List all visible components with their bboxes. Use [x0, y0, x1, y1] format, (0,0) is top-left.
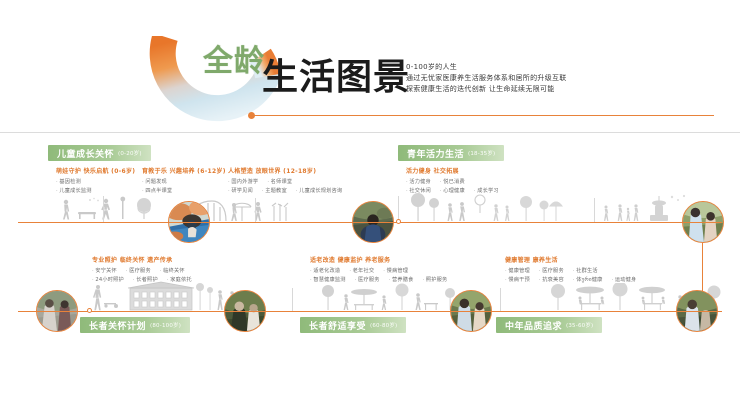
group-heading: 专业照护 临终关怀 遗产传承: [92, 255, 192, 264]
bullet-item: 活力健身: [406, 178, 431, 185]
chip-title: 儿童成长关怀: [57, 147, 114, 160]
rail-tick: [255, 198, 256, 222]
header-subtitle: 0-100岁的人生 通过无忧家医康养生活服务体系和居所的升级互联 探索健康生活的…: [406, 62, 567, 95]
group-row: 基因检测: [56, 178, 135, 185]
bullet-group-midlife: 健康管理 康养生活 健康管理 医疗服务 社群生活 慢病干预 抗衰美容 体ური健…: [505, 255, 636, 284]
rail-node-youth: [396, 219, 401, 224]
bullet-item: 运动健身: [612, 276, 637, 283]
chip-range: (35-60岁): [566, 321, 593, 329]
timeline-rail-top: [18, 222, 722, 223]
chip-title: 青年活力生活: [407, 147, 464, 160]
scene-care-residence: [90, 281, 246, 312]
bullet-item: 基因检测: [56, 178, 81, 185]
bullet-item: 医疗服务: [355, 276, 380, 283]
bullet-group-child-2: 人格塑造 放眼世界 (12-18岁) 国内外游学 名师课堂 研学见闻 主题教室 …: [228, 166, 342, 195]
bullet-item: 老年社交: [349, 267, 374, 274]
title-green: 全龄: [203, 47, 265, 77]
bullet-item: 抗衰美容: [539, 276, 564, 283]
chip-range: (80-100岁): [150, 321, 181, 329]
group-row: 慢病干预 抗衰美容 体ური健康 运动健身: [505, 276, 636, 283]
chip-title: 中年品质追求: [505, 319, 562, 332]
bullet-group-child-1: 育教于乐 兴趣培养 (6-12岁) 问题发现 四点半课堂: [142, 166, 226, 195]
bullet-item: 研学见闻: [228, 187, 253, 194]
timeline-rail-bottom: [18, 311, 722, 312]
bullet-item: 慢病管理: [383, 267, 408, 274]
section-chip-youth[interactable]: 青年活力生活 (18-35岁): [398, 145, 504, 161]
bullet-group-child-0: 萌娃守护 快乐启航 (0-6岁) 基因检测 儿童成长监测: [56, 166, 135, 195]
subtitle-line-2: 通过无忧家医康养生活服务体系和居所的升级互联: [406, 73, 567, 84]
scene-city-park: [404, 192, 572, 223]
bullet-group-elder-comfort: 适老改造 健康监护 养老服务 适老化改造 老年社交 慢病管理 智慧健康监测 医疗…: [310, 255, 447, 284]
bullet-group-youth-0: 活力健身 社交拓展 活力健身 悦已消费 社交休闲 心理健康 成长学习: [406, 166, 499, 195]
header-rule: [254, 115, 714, 116]
bullet-item: 医疗服务: [539, 267, 564, 274]
bullet-item: 国内外游学: [228, 178, 258, 185]
bullet-item: 问题发现: [142, 178, 167, 185]
subtitle-line-3: 探索健康生活的迭代创新 让生命延续无限可能: [406, 84, 567, 95]
bullet-item: 健康管理: [505, 267, 530, 274]
rail-tick: [103, 196, 104, 222]
group-heading: 萌娃守护 快乐启航 (0-6岁): [56, 166, 135, 175]
group-row: 四点半课堂: [142, 187, 226, 194]
bullet-item: 医疗服务: [126, 267, 151, 274]
bullet-group-elder-care: 专业照护 临终关怀 遗产传承 安宁关怀 医疗服务 临终关怀 24小时照护 长者照…: [92, 255, 192, 284]
group-heading: 活力健身 社交拓展: [406, 166, 499, 175]
group-row: 活力健身 悦已消费: [406, 178, 499, 185]
section-chip-child[interactable]: 儿童成长关怀 (0-20岁): [48, 145, 151, 161]
group-row: 健康管理 医疗服务 社群生活: [505, 267, 636, 274]
bullet-item: 儿童成长规划咨询: [296, 187, 342, 194]
bullet-item: 体ური健康: [573, 276, 603, 283]
bullet-item: 悦已消费: [440, 178, 465, 185]
bullet-item: 名师课堂: [267, 178, 292, 185]
bullet-item: 儿童成长监测: [56, 187, 92, 194]
rail-tick: [292, 288, 293, 311]
group-row: 问题发现: [142, 178, 226, 185]
chip-title: 长者关怀计划: [89, 319, 146, 332]
header-divider: [0, 132, 740, 133]
bullet-item: 临终关怀: [160, 267, 185, 274]
title-black: 生活图景: [262, 60, 410, 96]
section-chip-elder-care[interactable]: 长者关怀计划 (80-100岁): [80, 317, 190, 333]
bullet-item: 主题教室: [262, 187, 287, 194]
scene-plaza-fountain: [598, 193, 694, 223]
chip-title: 长者舒适享受: [309, 319, 366, 332]
subtitle-line-1: 0-100岁的人生: [406, 62, 567, 73]
chip-range: (0-20岁): [118, 149, 142, 157]
bullet-item: 安宁关怀: [92, 267, 117, 274]
scene-playground: [58, 196, 166, 222]
rail-node-elder-care: [87, 308, 92, 313]
group-row: 安宁关怀 医疗服务 临终关怀: [92, 267, 192, 274]
section-chip-midlife[interactable]: 中年品质追求 (35-60岁): [496, 317, 602, 333]
infographic-canvas: 全龄 生活图景 0-100岁的人生 通过无忧家医康养生活服务体系和居所的升级互联…: [0, 0, 740, 416]
header: 全龄 生活图景 0-100岁的人生 通过无忧家医康养生活服务体系和居所的升级互联…: [0, 0, 740, 132]
bullet-item: 适老化改造: [310, 267, 340, 274]
group-heading: 人格塑造 放眼世界 (12-18岁): [228, 166, 342, 175]
group-row: 儿童成长监测: [56, 187, 135, 194]
bullet-item: 四点半课堂: [142, 187, 172, 194]
group-heading: 育教于乐 兴趣培养 (6-12岁): [142, 166, 226, 175]
group-row: 智慧健康监测 医疗服务 营养膳食 照护服务: [310, 276, 447, 283]
bullet-item: 照护服务: [423, 276, 448, 283]
chip-range: (18-35岁): [468, 149, 495, 157]
rail-tick: [594, 198, 595, 222]
bullet-item: 社群生活: [573, 267, 598, 274]
bullet-item: 智慧健康监测: [310, 276, 346, 283]
group-row: 适老化改造 老年社交 慢病管理: [310, 267, 447, 274]
bullet-item: 营养膳食: [389, 276, 414, 283]
chip-range: (60-80岁): [370, 321, 397, 329]
group-row: 研学见闻 主题教室 儿童成长规划咨询: [228, 187, 342, 194]
section-chip-elder-comfort[interactable]: 长者舒适享受 (60-80岁): [300, 317, 406, 333]
rail-tick: [500, 288, 501, 311]
bullet-item: 慢病干预: [505, 276, 530, 283]
group-heading: 适老改造 健康监护 养老服务: [310, 255, 447, 264]
group-row: 国内外游学 名师课堂: [228, 178, 342, 185]
group-heading: 健康管理 康养生活: [505, 255, 636, 264]
